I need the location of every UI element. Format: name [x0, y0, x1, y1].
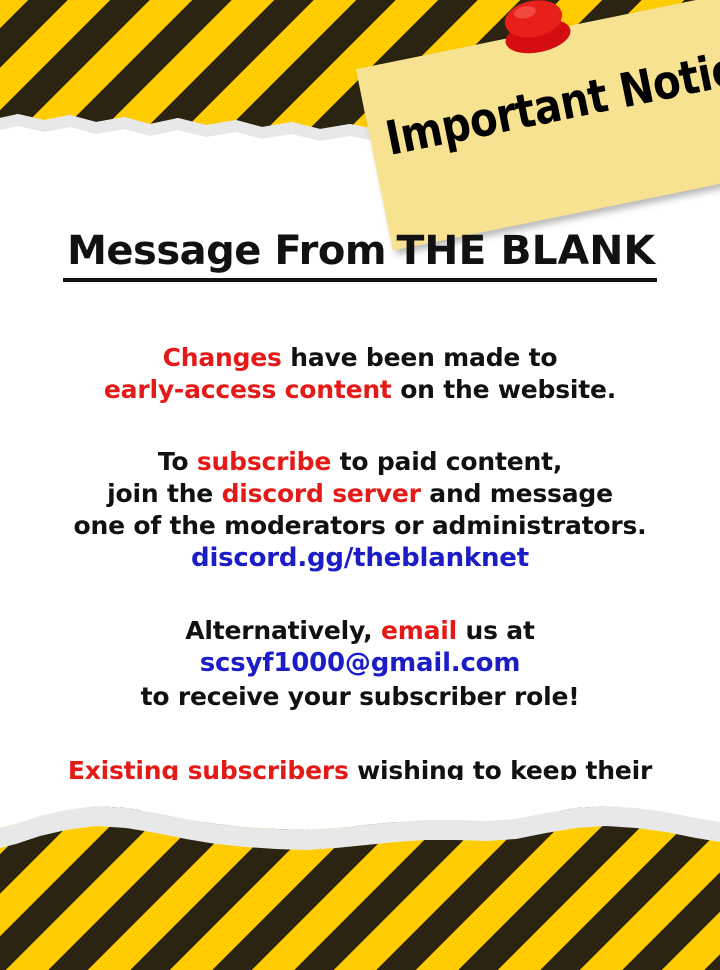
subscribe-line2-b: and message: [421, 479, 613, 508]
existing-line2-a: subscription access,: [95, 788, 386, 817]
subscribe-line1-a: To: [158, 447, 197, 476]
subscribe-line1-b: to paid content,: [331, 447, 562, 476]
contact-us-asap-callout: contact us ASAP!: [386, 788, 625, 817]
email-keyword: email: [381, 616, 457, 645]
changes-line1-rest: have been made to: [282, 343, 558, 372]
page-title-part-two: THE BLANK: [397, 228, 655, 274]
subscribe-line2-a: join the: [107, 479, 221, 508]
email-line1-b: us at: [457, 616, 535, 645]
email-line3: to receive your subscriber role!: [141, 682, 580, 711]
early-access-keyword: early-access content: [104, 375, 392, 404]
discord-invite-link[interactable]: discord.gg/theblanknet: [191, 543, 529, 573]
changes-line2-rest: on the website.: [392, 375, 616, 404]
email-address-link[interactable]: scsyf1000@gmail.com: [200, 648, 521, 678]
existing-line1-rest: wishing to keep their: [349, 756, 653, 785]
paragraph-existing-subscribers: Existing subscribers wishing to keep the…: [0, 755, 720, 819]
existing-subscribers-keyword: Existing subscribers: [68, 756, 349, 785]
changes-keyword: Changes: [163, 343, 282, 372]
discord-server-keyword: discord server: [222, 479, 421, 508]
subscribe-line3: one of the moderators or administrators.: [74, 511, 647, 540]
caution-tape-bottom: [0, 822, 720, 970]
page-title: Message From THE BLANK: [63, 228, 657, 282]
email-line1-a: Alternatively,: [185, 616, 381, 645]
notice-poster: Important Notice Message From THE BLANK …: [0, 0, 720, 970]
subscribe-keyword: subscribe: [197, 447, 331, 476]
paragraph-changes: Changes have been made to early-access c…: [0, 342, 720, 406]
page-title-part-one: Message From: [67, 228, 399, 274]
paragraph-subscribe: To subscribe to paid content, join the d…: [0, 446, 720, 575]
notice-content: Message From THE BLANK Changes have been…: [0, 228, 720, 819]
paragraph-email: Alternatively, email us at scsyf1000@gma…: [0, 615, 720, 712]
